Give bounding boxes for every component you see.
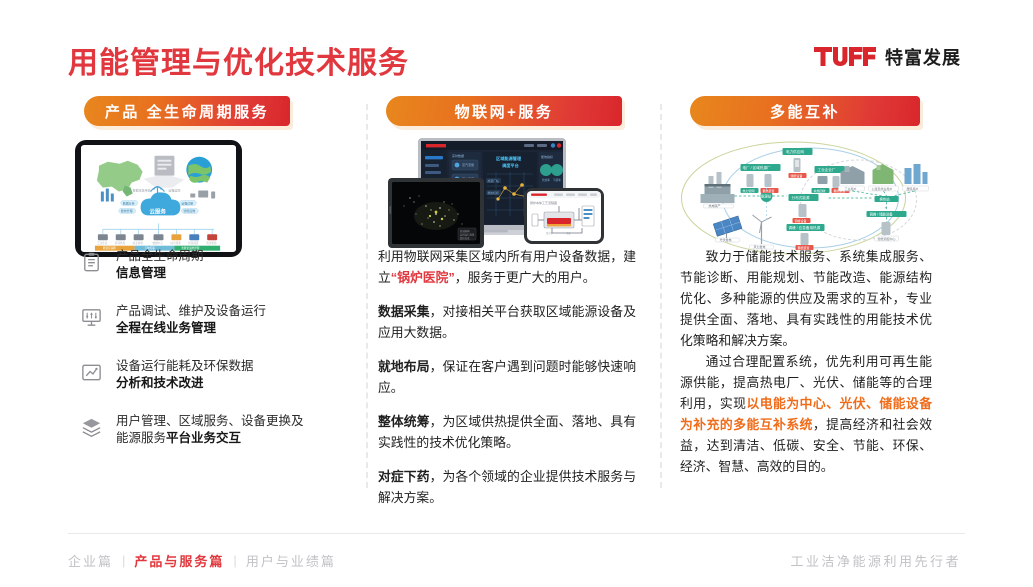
- footer-nav: 企业篇 | 产品与服务篇 | 用户与业绩篇: [68, 551, 336, 570]
- svg-text:公建及商业用户: 公建及商业用户: [872, 186, 893, 191]
- paragraph: 致力于储能技术服务、系统集成服务、节能诊断、用能规划、节能改造、能源结构优化、多…: [680, 246, 932, 351]
- feature-text: 产品调试、维护及设备运行 全程在线业务管理: [116, 303, 266, 337]
- page-title: 用能管理与优化技术服务: [68, 38, 409, 82]
- multi-energy-network-diagram: 热电联产 光伏发电: [676, 138, 931, 258]
- tablet-cloud-service-diagram: 数据采集传输 远程监控 云服务: [75, 140, 242, 257]
- column-multi-energy: 多能互补 热电联产: [678, 96, 950, 506]
- svg-text:数据中心: 数据中心: [153, 241, 164, 245]
- paragraph: 就地布局，保证在客户遇到问题时能够快速响应。: [378, 356, 636, 398]
- svg-text:智能运维: 智能运维: [183, 208, 195, 213]
- column-banner-lifecycle: 产品 全生命周期服务: [84, 96, 290, 126]
- svg-text:调峰设备: 调峰设备: [795, 218, 807, 223]
- slide-footer: 企业篇 | 产品与服务篇 | 用户与业绩篇 工业洁净能源利用先行者: [0, 525, 1033, 587]
- paragraph: 通过合理配置系统，优先利用可再生能源供能，提高热电厂、光伏、储能等的合理利用，实…: [680, 351, 932, 477]
- feature-text: 设备运行能耗及环保数据 分析和技术改进: [116, 358, 254, 392]
- svg-text:分布式能源: 分布式能源: [792, 195, 810, 200]
- paragraph-lead: 对症下药: [378, 469, 430, 484]
- paragraph: 数据采集，对接相关平台获取区域能源设备及应用大数据。: [378, 301, 636, 343]
- svg-text:实时数据: 实时数据: [452, 153, 464, 158]
- svg-text:调峰 / 应急备用热源: 调峰 / 应急备用热源: [789, 225, 821, 230]
- feature-line-2: 分析和技术改进: [116, 376, 204, 390]
- column-lifecycle: 产品 全生命周期服务: [68, 96, 358, 506]
- svg-text:远程诊断: 远程诊断: [181, 200, 193, 205]
- feature-item: 用户管理、区域服务、设备更换及 能源服务平台业务交互: [80, 413, 350, 447]
- svg-text:热电联产: 热电联产: [709, 203, 721, 208]
- feature-line-1: 产品全生命周期: [116, 249, 204, 263]
- svg-text:智能调控中心: 智能调控中心: [878, 236, 896, 241]
- footer-nav-item-products-services[interactable]: 产品与服务篇: [134, 551, 224, 570]
- svg-text:区域能源管理: 区域能源管理: [496, 155, 522, 162]
- brand-name-cn: 特富发展: [885, 44, 961, 70]
- svg-text:工业企业: 工业企业: [97, 241, 108, 245]
- svg-text:电厂 / 区域热源厂: 电厂 / 区域热源厂: [743, 165, 772, 170]
- svg-text:锅炉本体工艺流程图: 锅炉本体工艺流程图: [530, 200, 557, 205]
- feature-line-1: 产品调试、维护及设备运行: [116, 304, 266, 318]
- feature-line-2: 信息管理: [116, 266, 166, 280]
- svg-text:调度平台: 调度平台: [502, 162, 519, 169]
- svg-text:换热机组: 换热机组: [488, 191, 499, 195]
- svg-text:数据分析: 数据分析: [123, 200, 135, 205]
- tuff-logotype-icon: [814, 47, 876, 67]
- feature-line-2: 全程在线业务管理: [116, 321, 216, 335]
- column-iot: 物联网+服务: [378, 96, 643, 506]
- svg-text:蓄热装置: 蓄热装置: [763, 188, 775, 193]
- svg-text:换热站: 换热站: [880, 197, 891, 202]
- multi-energy-paragraphs: 致力于储能技术服务、系统集成服务、节能诊断、用能规划、节能改造、能源结构优化、多…: [680, 246, 932, 477]
- svg-text:热力管网: 热力管网: [743, 188, 755, 193]
- svg-text:能源站: 能源站: [761, 194, 772, 199]
- svg-text:能效管理: 能效管理: [121, 208, 133, 213]
- device-mockup-dashboard: 实时数据 蒸汽流量回水温度压力监测 区域能源管理 调度平台: [374, 136, 614, 254]
- monitor-settings-icon: [80, 306, 103, 329]
- svg-text:实时运行态势: 实时运行态势: [460, 233, 475, 237]
- feature-item: 产品调试、维护及设备运行 全程在线业务管理: [80, 303, 350, 337]
- svg-text:区域热网: 区域热网: [460, 229, 470, 233]
- paragraph-lead: 整体统筹: [378, 414, 430, 429]
- columns-area: 产品 全生命周期服务: [0, 96, 1033, 506]
- column-banner-iot: 物联网+服务: [386, 96, 622, 126]
- svg-text:节能率: 节能率: [553, 178, 561, 182]
- svg-text:云服务: 云服务: [150, 207, 167, 215]
- svg-text:工业用户: 工业用户: [845, 186, 857, 191]
- feature-text: 用户管理、区域服务、设备更换及 能源服务平台业务交互: [116, 413, 304, 447]
- chart-image-icon: [80, 361, 103, 384]
- footer-nav-item-customers-performance[interactable]: 用户与业绩篇: [246, 551, 336, 570]
- feature-item: 设备运行能耗及环保数据 分析和技术改进: [80, 358, 350, 392]
- footer-nav-separator: |: [233, 553, 236, 568]
- lifecycle-feature-list: 产品全生命周期 信息管理: [80, 248, 350, 468]
- paragraph: 整体统筹，为区域供热提供全面、落地、具有实践性的技术优化策略。: [378, 411, 636, 453]
- svg-text:热源厂站: 热源厂站: [488, 179, 499, 183]
- svg-text:工业企业厂: 工业企业厂: [818, 167, 836, 172]
- feature-item: 产品全生命周期 信息管理: [80, 248, 350, 282]
- paragraph-lead: 数据采集: [378, 304, 430, 319]
- iot-paragraphs: 利用物联网采集区域内所有用户设备数据，建立“锅炉医院”，服务于更广大的用户。 数…: [378, 246, 636, 521]
- svg-text:区域供热: 区域供热: [115, 241, 126, 245]
- svg-text:综合能源: 综合能源: [170, 241, 181, 245]
- column-divider-2: [660, 104, 662, 488]
- layers-icon: [80, 416, 103, 439]
- footer-nav-item-enterprise[interactable]: 企业篇: [68, 551, 113, 570]
- svg-text:远程监控: 远程监控: [168, 188, 180, 193]
- slide-root: 用能管理与优化技术服务 特富发展: [0, 0, 1033, 587]
- feature-line-2: 平台业务交互: [166, 431, 241, 445]
- paragraph-lead: 就地布局: [378, 359, 430, 374]
- banner-wrap-3: 多能互补: [678, 96, 950, 132]
- footer-tagline: 工业洁净能源利用先行者: [790, 551, 961, 570]
- paragraph: 利用物联网采集区域内所有用户设备数据，建立“锅炉医院”，服务于更广大的用户。: [378, 246, 636, 288]
- svg-text:数据采集传输: 数据采集传输: [133, 188, 151, 193]
- svg-text:清洁能源: 清洁能源: [206, 241, 217, 245]
- svg-text:蒸汽流量: 蒸汽流量: [462, 162, 474, 167]
- clipboard-icon: [80, 251, 103, 274]
- footer-nav-separator: |: [122, 553, 125, 568]
- tablet-screen: 数据采集传输 远程监控 云服务: [81, 145, 236, 252]
- svg-text:智慧园区: 智慧园区: [188, 241, 199, 245]
- svg-text:余热回收: 余热回收: [814, 188, 826, 193]
- svg-text:监控总览: 监控总览: [460, 236, 470, 240]
- svg-text:储能设备: 储能设备: [791, 173, 803, 178]
- svg-text:供热率: 供热率: [542, 178, 550, 182]
- feature-line-1: 用户管理、区域服务、设备更换及: [116, 414, 304, 428]
- svg-text:光伏发电: 光伏发电: [720, 237, 732, 242]
- banner-wrap-1: 产品 全生命周期服务: [68, 96, 358, 132]
- brand-logo: 特富发展: [814, 44, 961, 70]
- paragraph: 对症下药，为各个领域的企业提供技术服务与解决方案。: [378, 466, 636, 508]
- highlight-boiler-hospital: “锅炉医院”: [391, 270, 455, 285]
- svg-text:居民用户: 居民用户: [907, 186, 919, 191]
- slide-header: 用能管理与优化技术服务 特富发展: [0, 0, 1033, 95]
- feature-line-2-prefix: 能源服务: [116, 431, 166, 445]
- column-divider-1: [366, 104, 368, 488]
- feature-line-1: 设备运行能耗及环保数据: [116, 359, 254, 373]
- footer-divider: [68, 533, 965, 534]
- svg-text:调峰 / 储能设备: 调峰 / 储能设备: [870, 212, 894, 217]
- column-banner-multi-energy: 多能互补: [690, 96, 920, 126]
- banner-wrap-2: 物联网+服务: [378, 96, 643, 132]
- svg-text:商业建筑: 商业建筑: [133, 241, 144, 245]
- feature-text: 产品全生命周期 信息管理: [116, 248, 204, 282]
- svg-text:电力供应网: 电力供应网: [786, 149, 804, 154]
- svg-text:能效指标: 能效指标: [541, 154, 553, 159]
